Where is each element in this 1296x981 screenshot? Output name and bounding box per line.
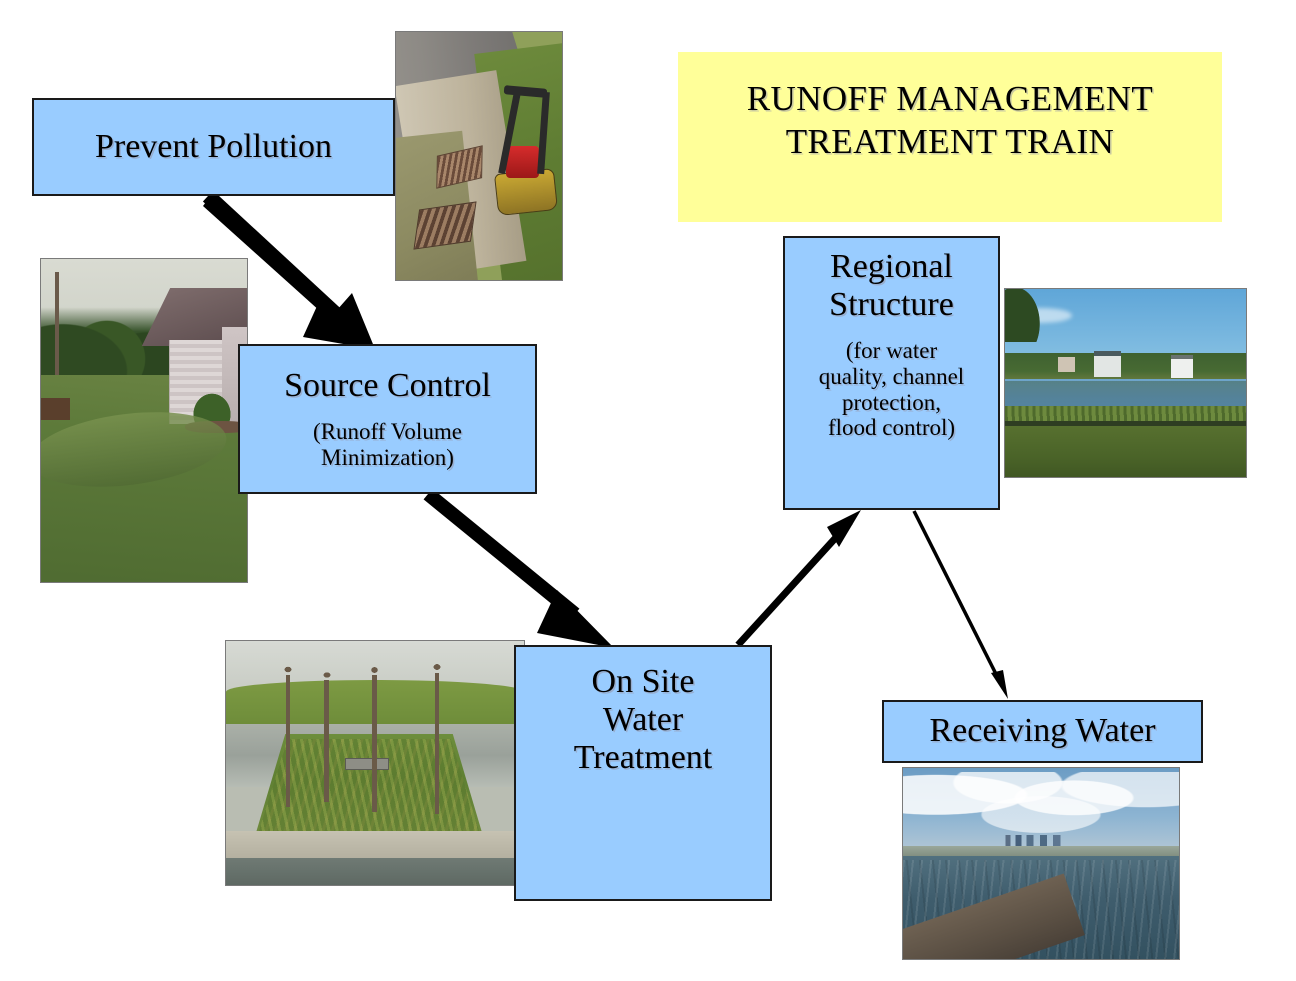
box-regional-structure[interactable]: Regional Structure (for water quality, c… [783,236,1000,510]
utility-pole [55,272,59,382]
regional-structure-sublabel-line-1: (for water [846,338,937,364]
mowed-buffer [1005,426,1246,478]
source-control-label: Source Control [284,367,491,405]
receiving-water-label: Receiving Water [929,712,1155,750]
on-site-label-line-3: Treatment [574,739,713,777]
mower-engine [506,146,539,178]
rain-garden-photo [225,640,525,886]
diagram-title-banner: RUNOFF MANAGEMENT TREATMENT TRAIN [678,52,1222,222]
tree-4 [435,673,440,815]
concrete-walk [226,831,524,860]
arrow-regional-to-receiving [914,511,1008,699]
box-receiving-water[interactable]: Receiving Water [882,700,1203,763]
house-lawn-swale-photo [40,258,248,583]
box-prevent-pollution[interactable]: Prevent Pollution [32,98,395,196]
tree-3 [372,675,377,812]
tree-2 [324,680,329,802]
box-on-site-water-treatment[interactable]: On Site Water Treatment [514,645,772,901]
house-left [1058,357,1075,372]
regional-structure-sublabel-line-3: protection, [842,390,941,416]
house-right [1171,355,1193,378]
mower-storm-drain-photo [395,31,563,281]
retaining-edge [41,398,70,421]
regional-structure-label-line-2: Structure [829,286,954,324]
prevent-pollution-label: Prevent Pollution [95,128,332,166]
regional-structure-label-line-1: Regional [830,248,953,286]
lake-skyline-photo [902,767,1180,960]
overflow-structure [345,758,389,770]
box-source-control[interactable]: Source Control (Runoff Volume Minimizati… [238,344,537,494]
title-line-2: TREATMENT TRAIN [786,121,1114,164]
arrow-onsite-to-regional [738,510,861,645]
foreground-tree [1004,288,1044,342]
storm-drain-grate-lower [413,201,477,250]
wet-asphalt [226,858,524,886]
regional-structure-sublabel-line-4: flood control) [828,415,955,441]
house-center [1094,351,1121,377]
regional-pond-photo [1004,288,1247,478]
on-site-label-line-2: Water [603,701,683,739]
arrow-source-to-onsite [428,494,614,648]
on-site-label-line-1: On Site [592,663,695,701]
runoff-treatment-train-diagram: RUNOFF MANAGEMENT TREATMENT TRAIN Preven… [0,0,1296,981]
tree-1 [286,675,291,807]
title-line-1: RUNOFF MANAGEMENT [747,78,1153,121]
source-control-sublabel: (Runoff Volume Minimization) [264,419,512,471]
regional-structure-sublabel-line-2: quality, channel [819,364,964,390]
